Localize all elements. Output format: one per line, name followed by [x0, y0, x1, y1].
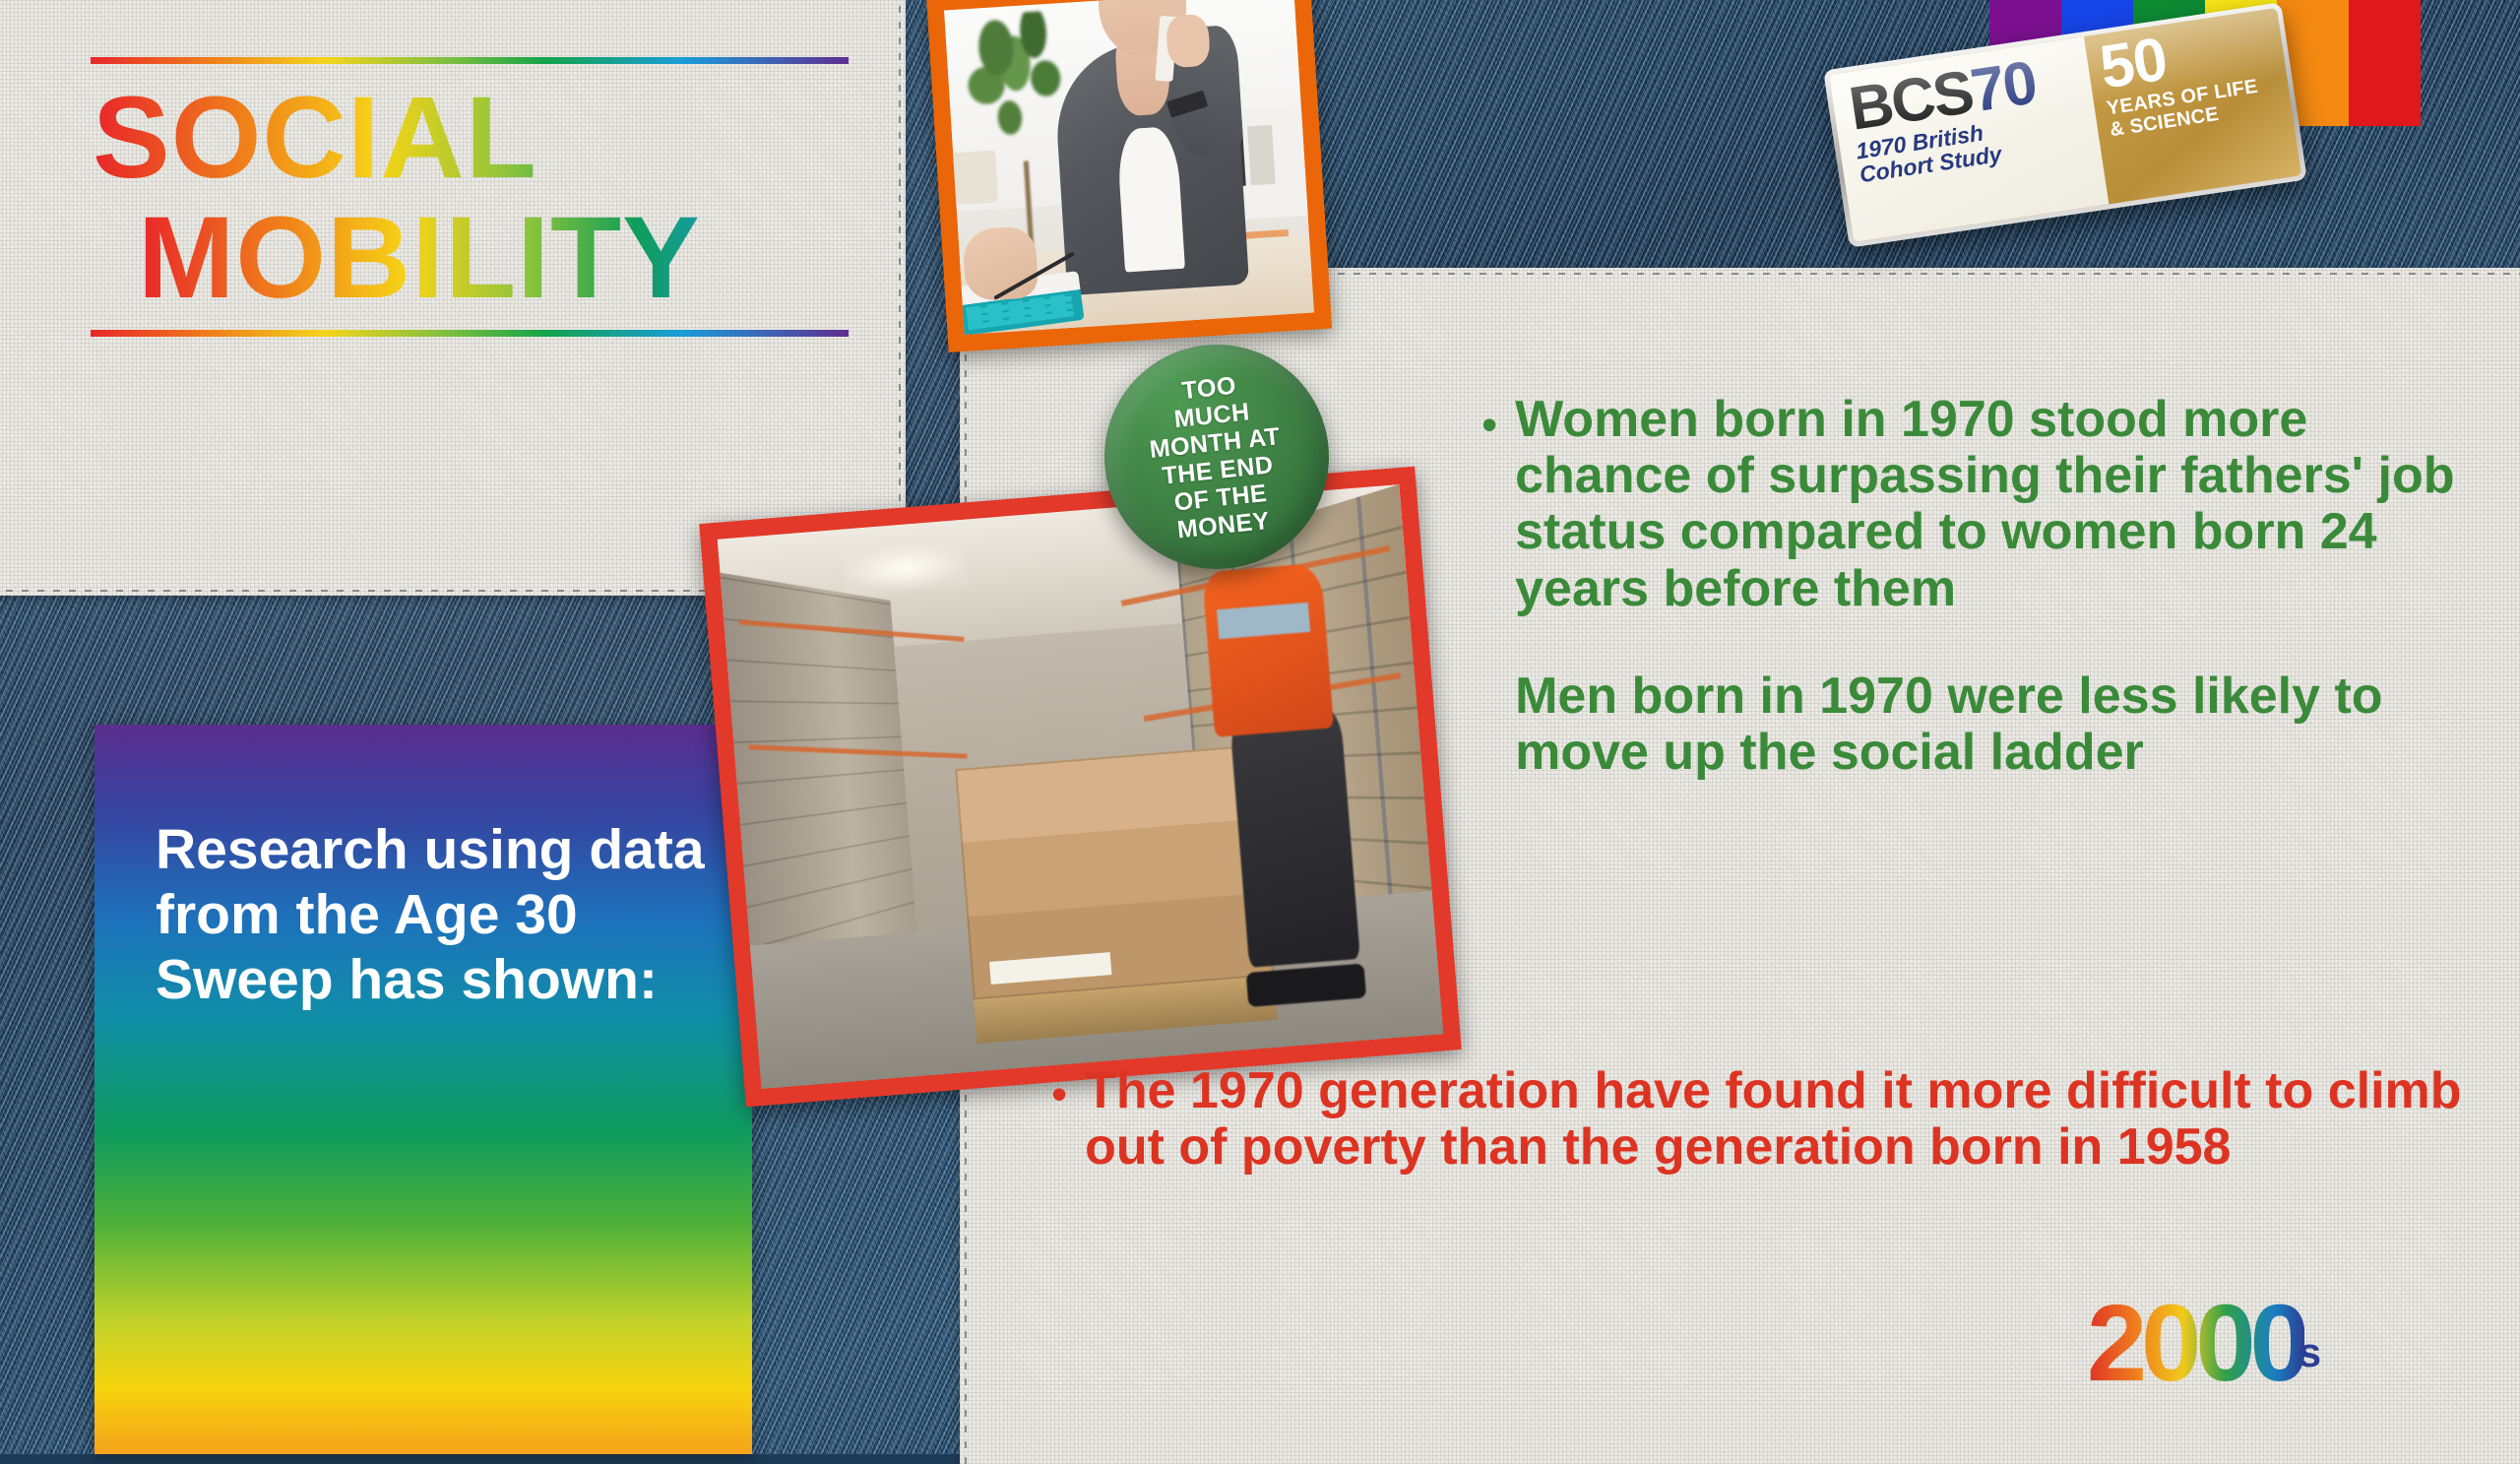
bullet-red-findings: • The 1970 generation have found it more…	[1051, 1063, 2479, 1176]
stitch-line-right	[899, 0, 901, 596]
bullet-red-paragraph-1: The 1970 generation have found it more d…	[1085, 1062, 2461, 1176]
photo-woman-on-phone	[926, 0, 1332, 352]
badge-too-much-month: TOO MUCH MONTH AT THE END OF THE MONEY	[1104, 345, 1329, 569]
warehouse-worker-legs	[1228, 707, 1359, 967]
office-mug	[950, 151, 998, 206]
logo-2000s-digits: 2000	[2087, 1298, 2304, 1391]
photo-warehouse-worker	[699, 467, 1461, 1108]
warehouse-scene	[718, 484, 1444, 1089]
title-line-social: SOCIAL	[93, 80, 849, 196]
title-line-mobility: MOBILITY	[138, 200, 849, 316]
research-callout-text: Research using data from the Age 30 Swee…	[156, 817, 707, 1012]
bullet-marker-red: •	[1051, 1071, 1067, 1176]
office-scene	[944, 0, 1314, 335]
rainbow-stripe-red	[2349, 0, 2421, 126]
logo-2000s-suffix: s	[2299, 1332, 2321, 1373]
bullet-red-text-group: The 1970 generation have found it more d…	[1085, 1063, 2479, 1176]
bcs70-wordmark-70: 70	[1967, 48, 2040, 125]
research-callout-box: Research using data from the Age 30 Swee…	[94, 725, 752, 1454]
page-title: SOCIAL MOBILITY	[91, 57, 849, 337]
bullet-green-paragraph-1: Women born in 1970 stood more chance of …	[1515, 391, 2454, 617]
logo-2000s: 2000 s	[2087, 1298, 2321, 1391]
warehouse-worker-shoe	[1246, 964, 1367, 1007]
bcs70-badge-right-panel: 50 YEARS OF LIFE & SCIENCE	[2084, 8, 2301, 204]
warehouse-hi-vis-vest	[1202, 563, 1334, 737]
bullet-marker-green: •	[1481, 402, 1497, 781]
bullet-green-text-group: Women born in 1970 stood more chance of …	[1515, 392, 2466, 781]
office-person-hand	[1165, 13, 1211, 67]
rainbow-divider-top	[91, 57, 849, 64]
photo-warehouse-inner	[718, 484, 1444, 1089]
office-person-hand-lower	[962, 226, 1039, 302]
bullet-green-paragraph-2: Men born in 1970 were less likely to mov…	[1515, 668, 2466, 781]
photo-office-inner	[944, 0, 1314, 335]
bullet-green-findings: • Women born in 1970 stood more chance o…	[1481, 392, 2466, 781]
warehouse-worker-foreground	[1183, 520, 1413, 1019]
badge-too-much-month-label: TOO MUCH MONTH AT THE END OF THE MONEY	[1143, 368, 1291, 546]
bcs70-badge-left-panel: BCS70 1970 British Cohort Study	[1829, 36, 2110, 242]
rainbow-divider-bottom	[91, 330, 849, 337]
